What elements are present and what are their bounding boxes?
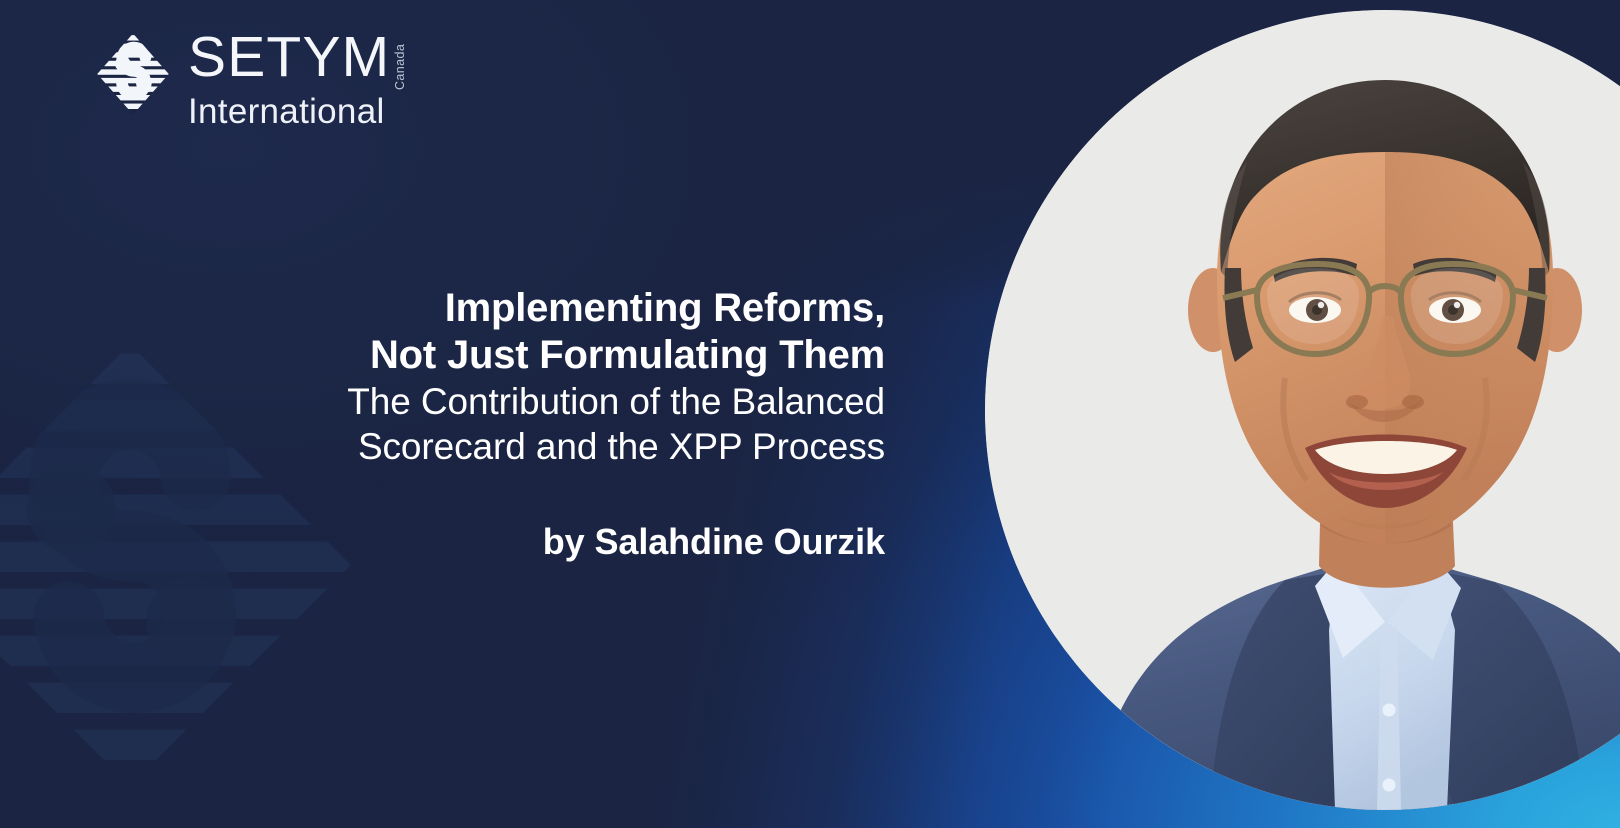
- headline-block: Implementing Reforms, Not Just Formulati…: [150, 285, 885, 563]
- speaker-portrait-circle: [985, 10, 1620, 810]
- logo-region-label: Canada: [393, 32, 407, 90]
- logo-qualifier: International: [188, 94, 407, 129]
- setym-logo[interactable]: SETYM Canada International: [94, 28, 407, 129]
- subtitle-line-1: The Contribution of the Balanced: [150, 379, 885, 424]
- title-line-2: Not Just Formulating Them: [150, 332, 885, 379]
- webinar-banner: SETYM Canada International Implementing …: [0, 0, 1620, 828]
- subtitle-line-2: Scorecard and the XPP Process: [150, 424, 885, 469]
- speaker-portrait: [985, 10, 1620, 810]
- author-byline: by Salahdine Ourzik: [150, 521, 885, 563]
- logo-wordmark: SETYM Canada International: [188, 28, 407, 129]
- title-line-1: Implementing Reforms,: [150, 285, 885, 332]
- logo-brand-name: SETYM: [188, 30, 390, 84]
- setym-diamond-logo-icon: [94, 32, 172, 116]
